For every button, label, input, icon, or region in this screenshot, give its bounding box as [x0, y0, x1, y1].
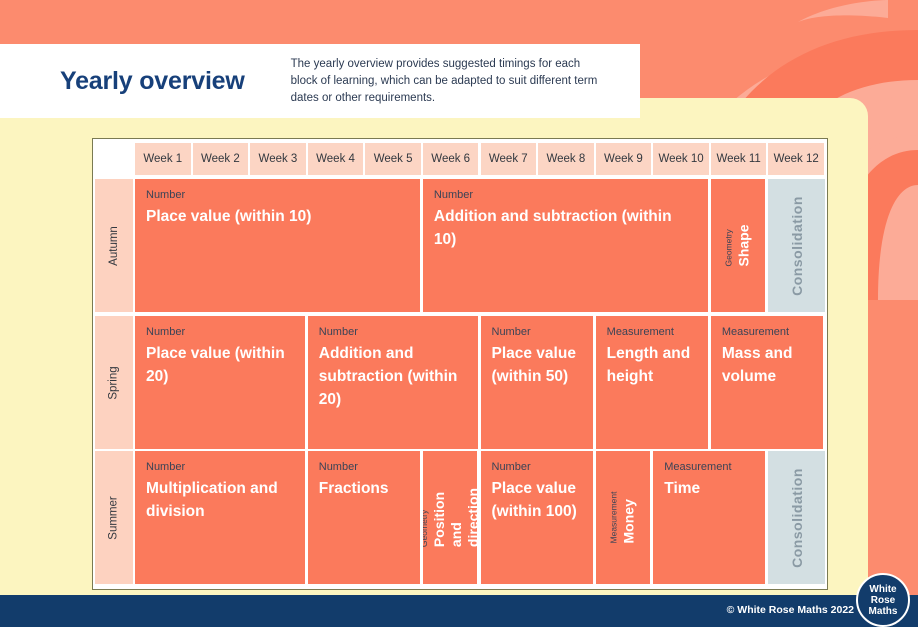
learning-block[interactable]: GeometryPosition and direction [423, 451, 478, 584]
week-header-8: Week 8 [538, 143, 594, 175]
consolidation-label: Consolidation [789, 196, 805, 296]
learning-block[interactable]: MeasurementLength and height [596, 316, 708, 449]
block-title: Position and direction [431, 488, 478, 547]
learning-block[interactable]: NumberAddition and subtraction (within 1… [423, 179, 708, 312]
block-title: Place value (within 100) [492, 477, 582, 523]
block-category: Geometry [423, 488, 429, 547]
season-label-text: Summer [108, 496, 120, 539]
block-title: Money [620, 492, 637, 544]
block-title: Time [664, 477, 754, 500]
week-header-6: Week 6 [423, 143, 479, 175]
block-category: Number [492, 461, 582, 473]
week-header-5: Week 5 [365, 143, 421, 175]
block-category: Geometry [724, 224, 734, 266]
block-category: Number [146, 326, 294, 338]
block-title: Addition and subtraction (within 10) [434, 205, 697, 251]
block-title: Addition and subtraction (within 20) [319, 342, 467, 411]
learning-block[interactable]: MeasurementTime [653, 451, 765, 584]
logo-line-white: White [869, 584, 896, 595]
week-header-9: Week 9 [596, 143, 652, 175]
week-header-3: Week 3 [250, 143, 306, 175]
block-category: Number [434, 189, 697, 201]
slide-root: Yearly overview The yearly overview prov… [0, 0, 918, 627]
title-bar: Yearly overview The yearly overview prov… [0, 44, 640, 118]
learning-block[interactable]: NumberFractions [308, 451, 420, 584]
week-header-10: Week 10 [653, 143, 709, 175]
footer-bar: © White Rose Maths 2022 White Rose Maths [0, 595, 918, 627]
block-title: Place value (within 20) [146, 342, 294, 388]
season-label-text: Autumn [108, 226, 120, 266]
consolidation-block[interactable]: Consolidation [768, 451, 825, 584]
learning-block[interactable]: NumberMultiplication and division [135, 451, 305, 584]
block-vertical-text: GeometryShape [724, 224, 753, 266]
yearly-overview-grid: Week 1Week 2Week 3Week 4Week 5Week 6Week… [92, 138, 828, 590]
week-header-7: Week 7 [481, 143, 537, 175]
logo-line-rose: Rose [871, 595, 895, 606]
block-category: Measurement [664, 461, 754, 473]
season-label-autumn: Autumn [95, 179, 133, 312]
consolidation-block[interactable]: Consolidation [768, 179, 825, 312]
season-label-text: Spring [108, 366, 120, 399]
block-category: Measurement [607, 326, 697, 338]
block-category: Number [319, 461, 409, 473]
block-vertical-text: MeasurementMoney [608, 492, 637, 544]
block-title: Multiplication and division [146, 477, 294, 523]
logo-line-maths: Maths [869, 606, 898, 617]
block-title: Shape [736, 224, 753, 266]
week-header-12: Week 12 [768, 143, 824, 175]
block-title: Length and height [607, 342, 697, 388]
block-category: Measurement [722, 326, 812, 338]
block-title: Place value (within 50) [492, 342, 582, 388]
block-category: Number [146, 189, 409, 201]
block-vertical-text: GeometryPosition and direction [423, 488, 478, 547]
page-title: Yearly overview [60, 67, 245, 96]
week-header-2: Week 2 [193, 143, 249, 175]
learning-block[interactable]: GeometryShape [711, 179, 766, 312]
learning-block[interactable]: MeasurementMoney [596, 451, 651, 584]
learning-block[interactable]: NumberAddition and subtraction (within 2… [308, 316, 478, 449]
learning-block[interactable]: NumberPlace value (within 50) [481, 316, 593, 449]
learning-block[interactable]: MeasurementMass and volume [711, 316, 823, 449]
block-category: Number [146, 461, 294, 473]
consolidation-label: Consolidation [789, 468, 805, 568]
block-title: Place value (within 10) [146, 205, 409, 228]
copyright-text: © White Rose Maths 2022 [727, 604, 854, 616]
block-title: Fractions [319, 477, 409, 500]
block-category: Measurement [608, 492, 618, 544]
week-header-4: Week 4 [308, 143, 364, 175]
season-label-summer: Summer [95, 451, 133, 584]
block-category: Number [492, 326, 582, 338]
learning-block[interactable]: NumberPlace value (within 10) [135, 179, 420, 312]
page-description: The yearly overview provides suggested t… [291, 56, 601, 107]
block-title: Mass and volume [722, 342, 812, 388]
learning-block[interactable]: NumberPlace value (within 100) [481, 451, 593, 584]
week-header-11: Week 11 [711, 143, 767, 175]
season-label-spring: Spring [95, 316, 133, 449]
week-header-1: Week 1 [135, 143, 191, 175]
learning-block[interactable]: NumberPlace value (within 20) [135, 316, 305, 449]
block-category: Number [319, 326, 467, 338]
white-rose-maths-logo: White Rose Maths [856, 573, 910, 627]
